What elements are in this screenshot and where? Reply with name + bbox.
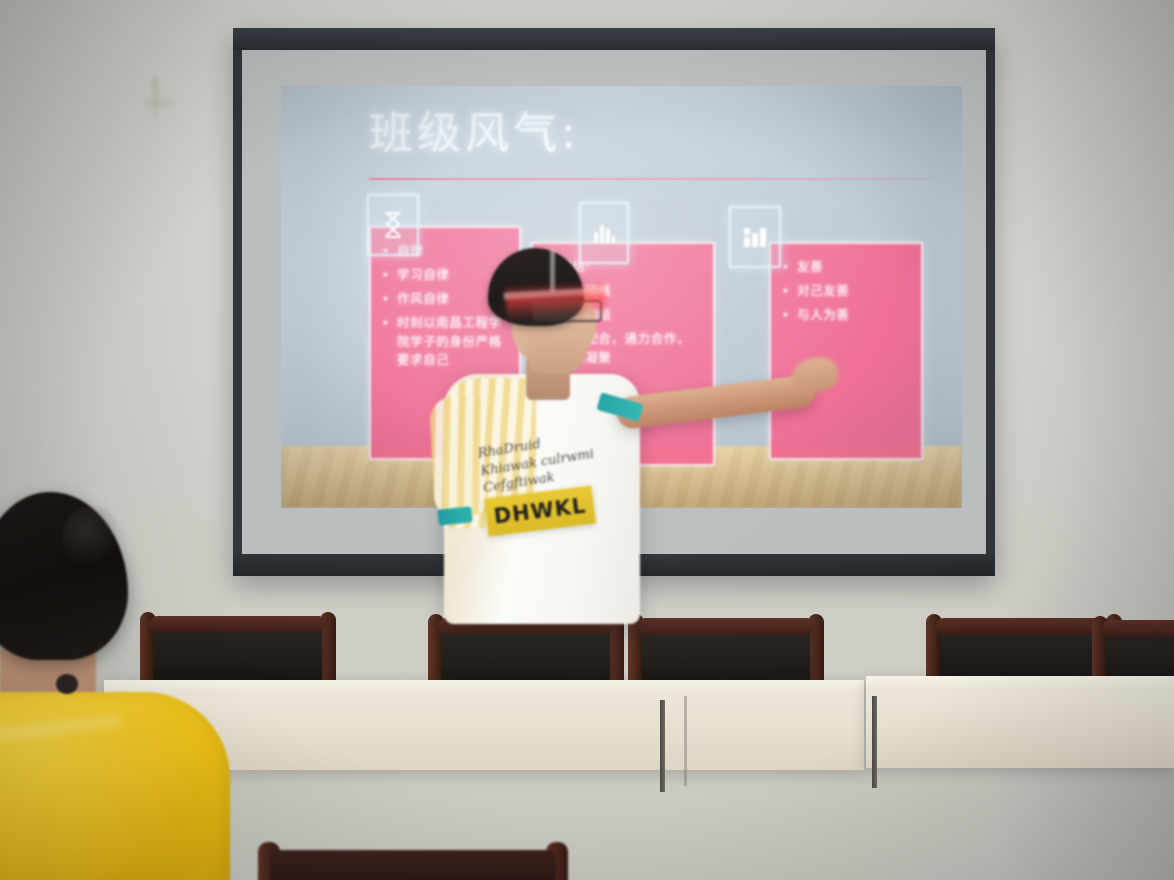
foreground-person-ear bbox=[56, 674, 78, 694]
table-leg bbox=[872, 696, 877, 788]
chair-top-rail bbox=[1102, 620, 1174, 636]
chair-top-rail bbox=[936, 618, 1112, 634]
slide-title: 班级风气: bbox=[369, 112, 580, 156]
table-leg bbox=[660, 700, 665, 792]
foreground-audience-person bbox=[0, 492, 270, 880]
table-seam bbox=[684, 696, 687, 786]
conference-table bbox=[866, 676, 1174, 768]
presenter-jaw bbox=[528, 330, 586, 374]
foreground-person-hair bbox=[0, 492, 128, 660]
table-edge bbox=[866, 676, 1174, 692]
projector-light-red-band bbox=[505, 279, 607, 320]
presenter-shirt-patch-text: DHWKL bbox=[492, 493, 587, 528]
hourglass-icon bbox=[367, 194, 419, 256]
presenter-person: RhaDruid Khiawak culrwmi Cefgftiwak DHWK… bbox=[420, 246, 840, 646]
slide-title-divider bbox=[369, 178, 934, 180]
foreground-chair bbox=[258, 836, 568, 880]
classroom-presentation-photo: 班级风气: 自律 学习自律 作风自律 时刻以南昌工程学院学子的身份严格要求自己 bbox=[0, 0, 1174, 880]
chair-backrest bbox=[270, 850, 556, 880]
presenter-pointing-arm bbox=[615, 374, 817, 430]
wall-stain-mark-secondary bbox=[145, 100, 171, 106]
screen-roller-bar bbox=[233, 28, 995, 50]
